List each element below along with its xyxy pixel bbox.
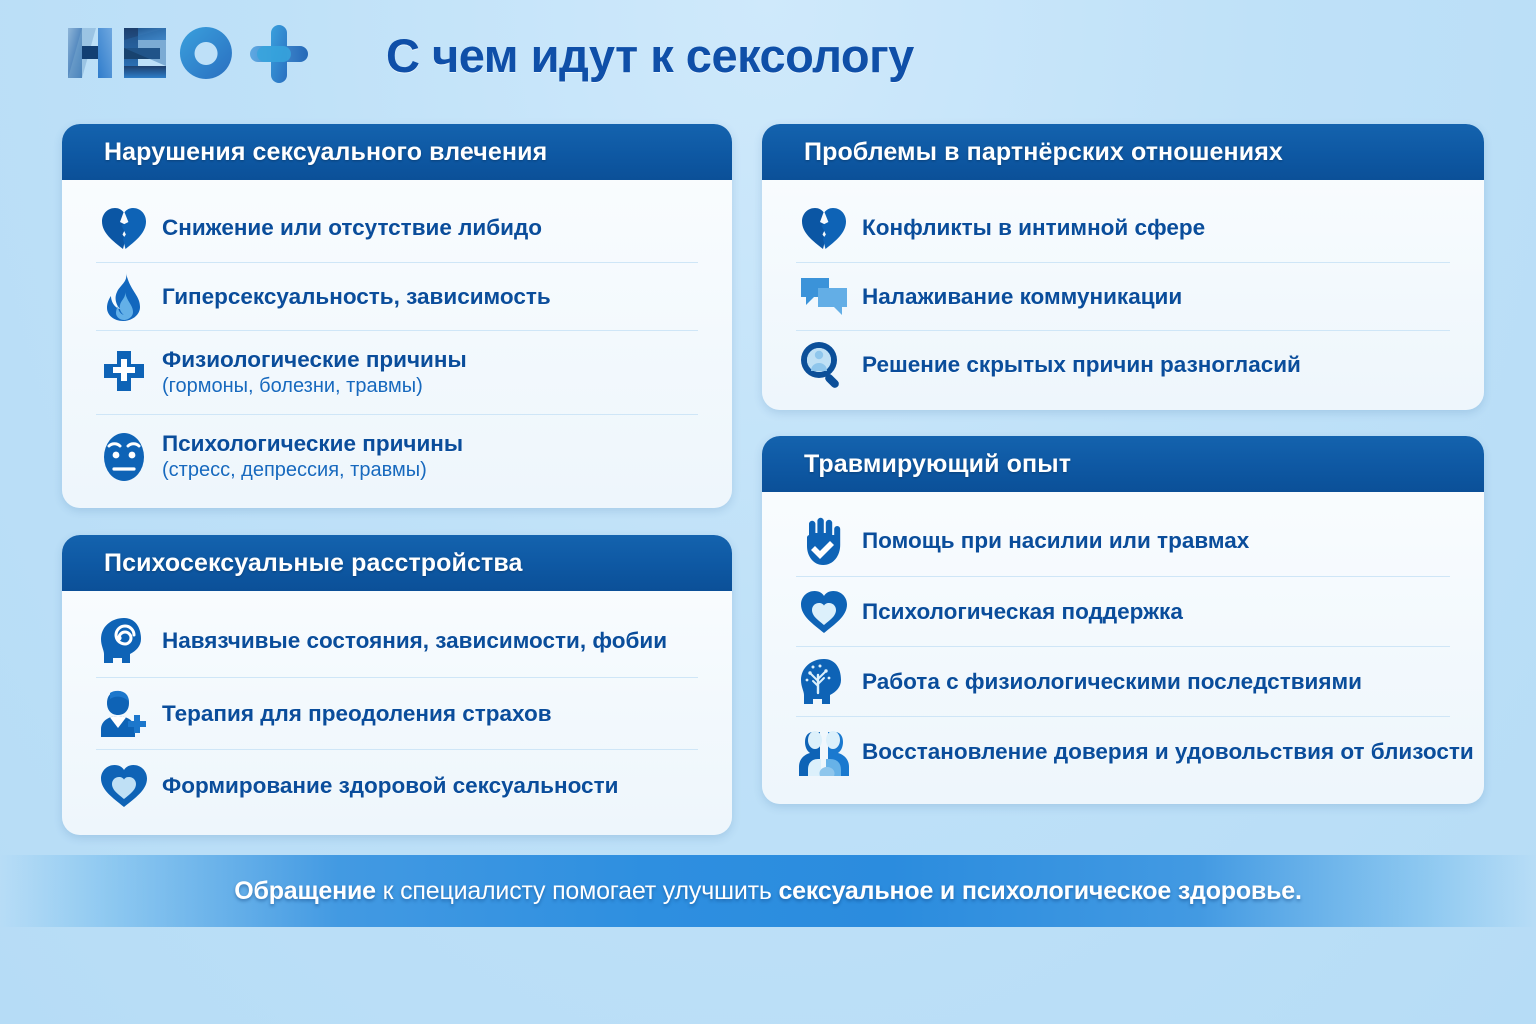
list-item-label: Восстановление доверия и удовольствия от… bbox=[862, 739, 1474, 765]
magnifier-person-icon bbox=[796, 337, 852, 393]
card-title: Проблемы в партнёрских отношениях bbox=[804, 138, 1283, 167]
list-item-label: Навязчивые состояния, зависимости, фобии bbox=[162, 628, 667, 654]
list-item-text: Формирование здоровой сексуальности bbox=[162, 773, 618, 799]
card-header: Травмирующий опыт bbox=[762, 436, 1484, 492]
list-item-label: Психологические причины bbox=[162, 431, 463, 457]
list-item-label: Гиперсексуальность, зависимость bbox=[162, 284, 551, 310]
list-item-text: Психологическая поддержка bbox=[862, 599, 1183, 625]
person-plus-icon bbox=[96, 686, 152, 742]
list-item-label: Помощь при насилии или травмах bbox=[862, 528, 1249, 554]
list-item[interactable]: Решение скрытых причин разногласий bbox=[796, 330, 1450, 398]
card-header: Психосексуальные расстройства bbox=[62, 535, 732, 591]
list-item-text: Физиологические причины (гормоны, болезн… bbox=[162, 347, 467, 399]
list-item[interactable]: Конфликты в интимной сфере bbox=[796, 194, 1450, 262]
card-header: Проблемы в партнёрских отношениях bbox=[762, 124, 1484, 180]
list-item-label: Снижение или отсутствие либидо bbox=[162, 215, 542, 241]
page-title: С чем идут к сексологу bbox=[386, 22, 1086, 88]
head-spiral-icon bbox=[96, 613, 152, 669]
list-item-text: Гиперсексуальность, зависимость bbox=[162, 284, 551, 310]
card-title: Нарушения сексуального влечения bbox=[104, 138, 547, 167]
list-item-text: Конфликты в интимной сфере bbox=[862, 215, 1205, 241]
card-body: Навязчивые состояния, зависимости, фобии… bbox=[62, 591, 732, 835]
list-item[interactable]: Психологические причины (стресс, депресс… bbox=[96, 414, 698, 498]
card-body: Помощь при насилии или травмах Психологи… bbox=[762, 492, 1484, 802]
broken-heart-icon bbox=[796, 200, 852, 256]
flame-icon bbox=[96, 269, 152, 325]
list-item[interactable]: Формирование здоровой сексуальности bbox=[96, 749, 698, 821]
list-item-label: Физиологические причины bbox=[162, 347, 467, 373]
list-item-label: Решение скрытых причин разногласий bbox=[862, 352, 1301, 378]
list-item[interactable]: Психологическая поддержка bbox=[796, 576, 1450, 646]
sad-face-icon bbox=[96, 429, 152, 485]
list-item[interactable]: Снижение или отсутствие либидо bbox=[96, 194, 698, 262]
footer-bold-end: сексуальное и психологическое здоровье. bbox=[778, 877, 1301, 905]
list-item[interactable]: Работа с физиологическими последствиями bbox=[796, 646, 1450, 716]
speech-bubbles-icon bbox=[796, 269, 852, 325]
card-traumatic-experience: Травмирующий опыт Помощь при насилии или… bbox=[762, 436, 1484, 804]
card-partner-relationship-problems: Проблемы в партнёрских отношениях Конфли… bbox=[762, 124, 1484, 410]
list-item-text: Терапия для преодоления страхов bbox=[162, 701, 552, 727]
card-title: Психосексуальные расстройства bbox=[104, 549, 523, 578]
card-psychosexual-disorders: Психосексуальные расстройства Навязчивые… bbox=[62, 535, 732, 835]
list-item-text: Работа с физиологическими последствиями bbox=[862, 669, 1362, 695]
list-item[interactable]: Физиологические причины (гормоны, болезн… bbox=[96, 330, 698, 414]
list-item-text: Помощь при насилии или травмах bbox=[862, 528, 1249, 554]
list-item[interactable]: Налаживание коммуникации bbox=[796, 262, 1450, 330]
header: С чем идут к сексологу bbox=[0, 0, 1536, 110]
list-item-text: Решение скрытых причин разногласий bbox=[862, 352, 1301, 378]
infographic-root: С чем идут к сексологу Нарушения сексуал… bbox=[0, 0, 1536, 1024]
list-item-label: Психологическая поддержка bbox=[862, 599, 1183, 625]
footer-text: Обращение к специалисту помогает улучшит… bbox=[234, 877, 1301, 906]
list-item[interactable]: Навязчивые состояния, зависимости, фобии bbox=[96, 605, 698, 677]
card-body: Конфликты в интимной сфере Налаживание к… bbox=[762, 180, 1484, 410]
list-item-label: Формирование здоровой сексуальности bbox=[162, 773, 618, 799]
list-item-text: Налаживание коммуникации bbox=[862, 284, 1182, 310]
list-item-label: Терапия для преодоления страхов bbox=[162, 701, 552, 727]
card-title: Травмирующий опыт bbox=[804, 450, 1071, 479]
footer-bold-start: Обращение bbox=[234, 877, 376, 905]
list-item-text: Восстановление доверия и удовольствия от… bbox=[862, 739, 1474, 765]
list-item-sublabel: (стресс, депрессия, травмы) bbox=[162, 458, 463, 482]
list-item-label: Налаживание коммуникации bbox=[862, 284, 1182, 310]
footer-middle: к специалисту помогает улучшить bbox=[376, 877, 779, 905]
list-item[interactable]: Восстановление доверия и удовольствия от… bbox=[796, 716, 1450, 786]
list-item[interactable]: Гиперсексуальность, зависимость bbox=[96, 262, 698, 330]
list-item-label: Работа с физиологическими последствиями bbox=[862, 669, 1362, 695]
logo-icon bbox=[62, 22, 312, 84]
list-item[interactable]: Помощь при насилии или травмах bbox=[796, 506, 1450, 576]
footer-banner: Обращение к специалисту помогает улучшит… bbox=[0, 855, 1536, 927]
heart-in-heart-icon bbox=[96, 758, 152, 814]
head-tree-icon bbox=[796, 654, 852, 710]
medical-cross-icon bbox=[96, 345, 152, 401]
list-item-text: Навязчивые состояния, зависимости, фобии bbox=[162, 628, 667, 654]
card-header: Нарушения сексуального влечения bbox=[62, 124, 732, 180]
hand-check-icon bbox=[796, 513, 852, 569]
broken-heart-icon bbox=[96, 200, 152, 256]
neo-plus-logo bbox=[62, 22, 312, 84]
list-item-label: Конфликты в интимной сфере bbox=[862, 215, 1205, 241]
list-item[interactable]: Терапия для преодоления страхов bbox=[96, 677, 698, 749]
couple-embrace-icon bbox=[796, 724, 852, 780]
list-item-text: Психологические причины (стресс, депресс… bbox=[162, 431, 463, 483]
heart-in-heart-icon bbox=[796, 584, 852, 640]
card-sexual-desire-disorders: Нарушения сексуального влечения Снижение… bbox=[62, 124, 732, 508]
list-item-text: Снижение или отсутствие либидо bbox=[162, 215, 542, 241]
list-item-sublabel: (гормоны, болезни, травмы) bbox=[162, 374, 467, 398]
card-body: Снижение или отсутствие либидо Гиперсекс… bbox=[62, 180, 732, 508]
